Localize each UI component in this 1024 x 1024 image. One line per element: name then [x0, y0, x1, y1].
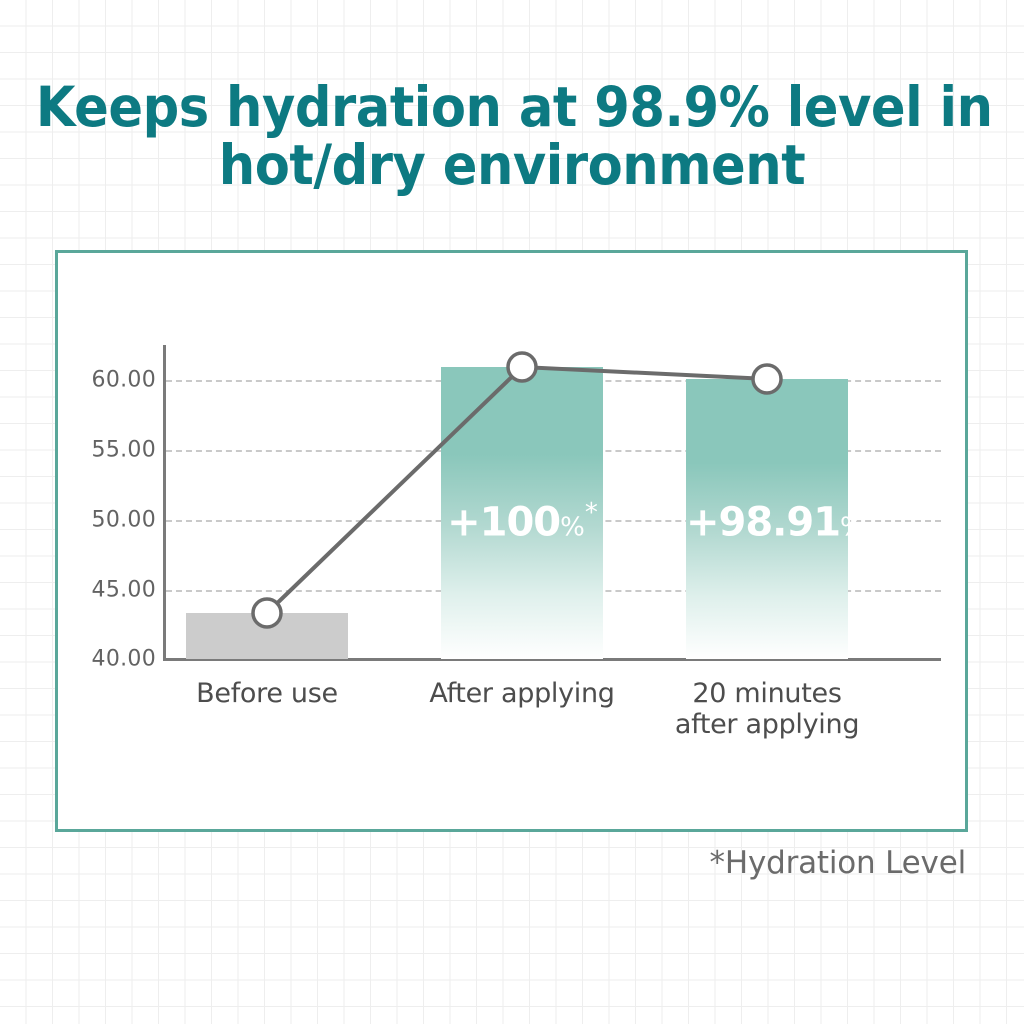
y-tick-label-40: 40.00 — [70, 647, 156, 672]
x-category-20min-line2: after applying — [675, 709, 859, 740]
infographic-page: { "title": { "line1": "Keeps hydration a… — [0, 0, 1024, 1024]
title-line-1: Keeps hydration at 98.9% level in — [36, 78, 988, 136]
bar-label-value-3: +98.91 — [686, 499, 840, 545]
plot-area: 60.00 55.00 50.00 45.00 40.00 +100%* +98… — [58, 253, 965, 829]
title-line-2: hot/dry environment — [36, 136, 988, 194]
x-category-20min-line1: 20 minutes — [692, 678, 841, 709]
bar-before-use — [186, 613, 348, 659]
page-title: Keeps hydration at 98.9% level in hot/dr… — [0, 78, 1024, 194]
x-category-label-after-applying: After applying — [407, 678, 637, 709]
y-tick-label-60: 60.00 — [70, 368, 156, 393]
bar-label-after-applying: +100%* — [441, 498, 603, 545]
bar-label-value-2: +100 — [447, 499, 560, 545]
y-tick-label-45: 45.00 — [70, 578, 156, 603]
chart-container: 60.00 55.00 50.00 45.00 40.00 +100%* +98… — [55, 250, 968, 832]
footnote-hydration-level: *Hydration Level — [710, 845, 966, 881]
bar-label-20-minutes-after-applying: +98.91%* — [686, 498, 848, 545]
bar-label-percent-2: % — [560, 512, 585, 542]
y-axis-line — [163, 345, 166, 661]
y-tick-label-50: 50.00 — [70, 508, 156, 533]
x-category-label-20-minutes-after-applying: 20 minutes after applying — [652, 678, 882, 740]
x-category-label-before-use: Before use — [152, 678, 382, 709]
x-category-after-applying-line1: After applying — [429, 678, 614, 709]
bar-label-asterisk-2: * — [585, 498, 597, 528]
bar-label-asterisk-3: * — [865, 498, 877, 528]
x-category-before-use-line1: Before use — [196, 678, 338, 709]
bar-label-percent-3: % — [840, 512, 865, 542]
y-tick-label-55: 55.00 — [70, 438, 156, 463]
